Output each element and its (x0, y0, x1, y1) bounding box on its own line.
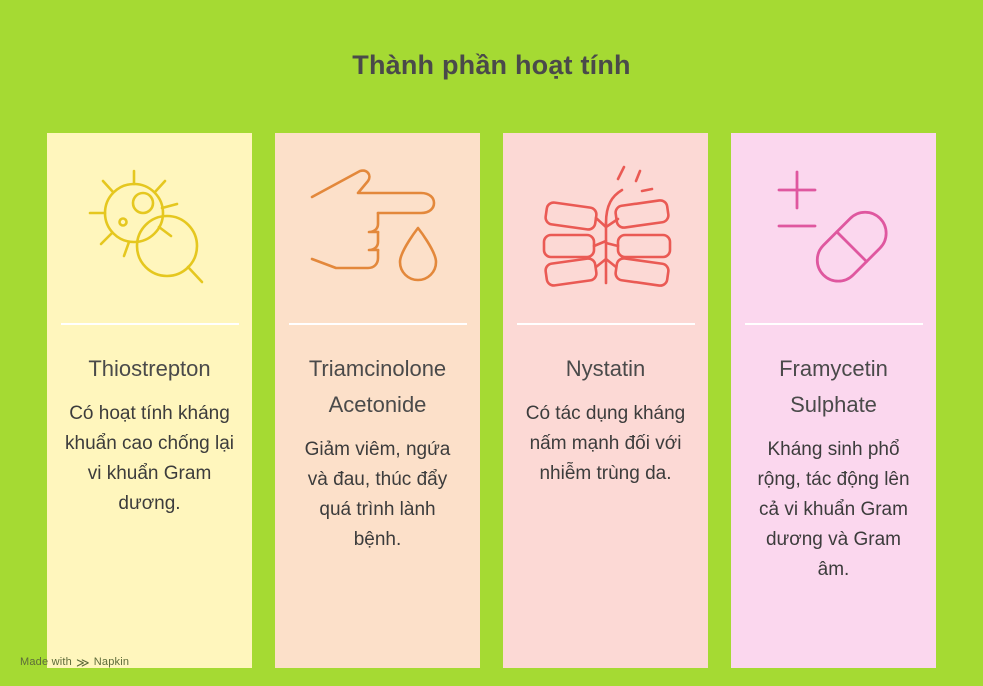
napkin-watermark: Made with ≫ Napkin (20, 656, 129, 668)
page-title: Thành phần hoạt tính (0, 48, 983, 82)
napkin-logo-icon: ≫ (76, 657, 90, 668)
card-divider (61, 323, 239, 325)
ingredient-card-nystatin[interactable]: Nystatin Có tác dụng kháng nấm mạnh đối … (503, 133, 708, 668)
card-description: Có tác dụng kháng nấm mạnh đối với nhiễm… (503, 399, 708, 489)
watermark-prefix: Made with (20, 656, 72, 668)
card-description: Kháng sinh phổ rộng, tác động lên cả vi … (731, 435, 936, 585)
watermark-brand: Napkin (94, 656, 129, 668)
ingredient-card-framycetin-sulphate[interactable]: Framycetin Sulphate Kháng sinh phổ rộng,… (731, 133, 936, 668)
card-divider (517, 323, 695, 325)
capsule-plus-minus-icon (731, 133, 936, 323)
card-title: Thiostrepton (78, 351, 220, 387)
card-description: Có hoạt tính kháng khuẩn cao chống lại v… (47, 399, 252, 519)
fungus-icon (503, 133, 708, 323)
ingredient-card-thiostrepton[interactable]: Thiostrepton Có hoạt tính kháng khuẩn ca… (47, 133, 252, 668)
card-title: Nystatin (556, 351, 655, 387)
pointing-hand-droplet-icon (275, 133, 480, 323)
card-title: Triamcinolone Acetonide (275, 351, 480, 423)
card-title: Framycetin Sulphate (731, 351, 936, 423)
card-divider (745, 323, 923, 325)
ingredient-card-list: Thiostrepton Có hoạt tính kháng khuẩn ca… (47, 133, 936, 668)
ingredient-card-triamcinolone-acetonide[interactable]: Triamcinolone Acetonide Giảm viêm, ngứa … (275, 133, 480, 668)
bacteria-magnifier-icon (47, 133, 252, 323)
card-description: Giảm viêm, ngứa và đau, thúc đẩy quá trì… (275, 435, 480, 555)
card-divider (289, 323, 467, 325)
